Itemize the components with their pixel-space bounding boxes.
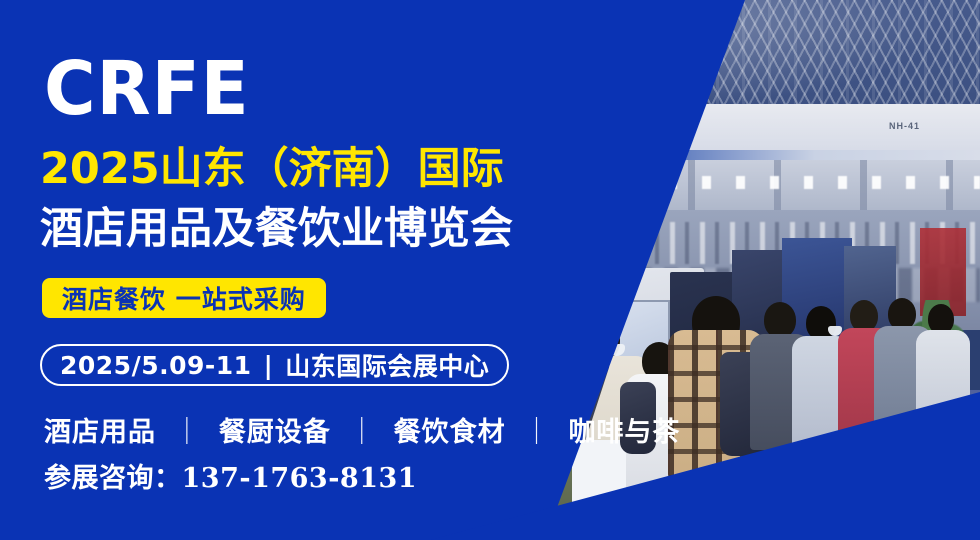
tagline-text: 酒店餐饮 一站式采购 — [62, 280, 306, 316]
category-separator-0: ｜ — [166, 417, 208, 448]
banner-content: CRFE 2025山东（济南）国际 酒店用品及餐饮业博览会 酒店餐饮 一站式采购… — [0, 0, 980, 540]
contact-label: 参展咨询： — [44, 463, 182, 494]
category-separator-2: ｜ — [516, 417, 558, 448]
contact-phone: 137-1763-8131 — [182, 463, 418, 494]
contact-line: 参展咨询：137-1763-8131 — [44, 456, 417, 495]
tagline-pill: 酒店餐饮 一站式采购 — [42, 278, 326, 318]
event-venue: 山东国际会展中心 — [285, 347, 489, 383]
category-separator-1: ｜ — [341, 417, 383, 448]
category-item-3: 咖啡与茶 — [568, 417, 680, 448]
category-item-2: 餐饮食材 — [394, 417, 506, 448]
crfe-logo: CRFE — [44, 52, 250, 126]
category-item-1: 餐厨设备 — [219, 417, 331, 448]
category-item-0: 酒店用品 — [44, 417, 156, 448]
event-title-line-2: 酒店用品及餐饮业博览会 — [40, 208, 513, 251]
date-venue-separator: | — [252, 351, 286, 380]
expo-promo-banner: NH-41 新生 创新驱动 品质生活 BoGok — [0, 0, 980, 540]
event-date: 2025/5.09-11 — [60, 351, 252, 380]
date-venue-pill: 2025/5.09-11 | 山东国际会展中心 — [40, 344, 509, 386]
event-title-line-1: 2025山东（济南）国际 — [40, 148, 504, 191]
category-list: 酒店用品 ｜ 餐厨设备 ｜ 餐饮食材 ｜ 咖啡与茶 — [44, 410, 680, 449]
